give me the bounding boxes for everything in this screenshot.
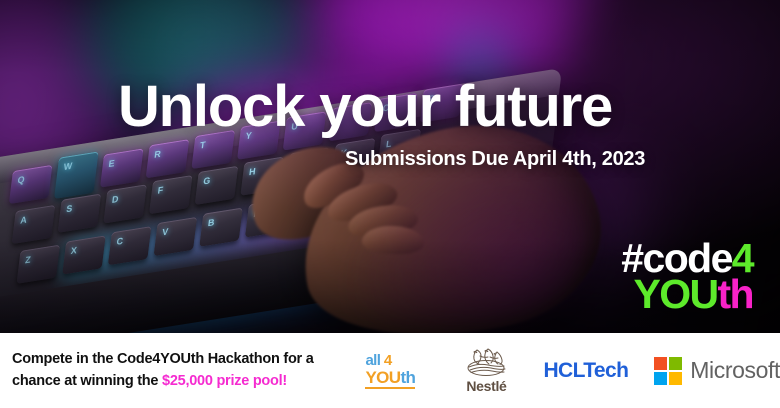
- keycap: G: [195, 166, 239, 205]
- nestle-wordmark: Nestlé: [455, 378, 517, 394]
- code4youth-you: YOU: [633, 271, 717, 317]
- bottom-bar-message-line1: Compete in the Code4YOUth Hackathon for …: [12, 351, 314, 367]
- all4youth-th: th: [400, 368, 415, 387]
- keycap-glyph: S: [66, 203, 73, 214]
- keycap: E: [100, 148, 144, 187]
- keycap: Q: [9, 165, 53, 204]
- code4youth-logo: #code4 YOUth: [578, 240, 753, 312]
- banner-headline: Unlock your future: [118, 78, 612, 136]
- bottom-bar: Compete in the Code4YOUth Hackathon for …: [0, 333, 780, 408]
- keycap-glyph: W: [63, 161, 73, 173]
- keycap: D: [103, 184, 147, 223]
- bottom-bar-message-line2-prefix: chance at winning the: [12, 373, 162, 389]
- code4youth-th: th: [718, 271, 754, 317]
- microsoft-wordmark: Microsoft: [690, 357, 780, 384]
- keycap: C: [108, 226, 152, 265]
- keycap-glyph: R: [154, 149, 162, 160]
- keycap-glyph: A: [20, 214, 28, 225]
- keycap: S: [58, 194, 102, 233]
- sponsor-logo-microsoft[interactable]: Microsoft: [654, 357, 780, 385]
- keycap: W: [54, 151, 99, 199]
- all4youth-you: YOU: [365, 368, 400, 387]
- keycap: B: [199, 208, 243, 247]
- microsoft-square-green: [669, 357, 682, 370]
- keycap-glyph: Z: [25, 254, 32, 265]
- keycap-glyph: E: [108, 158, 115, 169]
- keycap-glyph: X: [70, 245, 77, 256]
- microsoft-square-blue: [654, 372, 667, 385]
- keycap-glyph: V: [162, 226, 169, 237]
- microsoft-square-yellow: [669, 372, 682, 385]
- code4youth-logo-line2: YOUth: [578, 276, 753, 312]
- keycap-glyph: G: [203, 175, 211, 186]
- keycap-glyph: B: [207, 217, 215, 228]
- keycap-glyph: C: [116, 236, 124, 247]
- banner-subheadline: Submissions Due April 4th, 2023: [345, 148, 645, 171]
- sponsor-logos: all 4 YOUth: [359, 347, 780, 394]
- keycap: V: [154, 217, 198, 256]
- keycap: A: [12, 205, 56, 244]
- microsoft-square-red: [654, 357, 667, 370]
- keycap-glyph: H: [248, 166, 256, 177]
- nestle-birds-nest-icon: [464, 347, 508, 377]
- sponsor-logo-hcltech[interactable]: HCLTech: [543, 359, 628, 383]
- all4youth-all: all: [365, 352, 380, 369]
- keycap: R: [146, 139, 190, 178]
- bottom-bar-message: Compete in the Code4YOUth Hackathon for …: [12, 349, 359, 391]
- sponsor-logo-all4youth[interactable]: all 4 YOUth: [365, 353, 429, 389]
- keycap-glyph: Q: [17, 174, 25, 185]
- keycap: Z: [16, 245, 60, 284]
- keycap-glyph: D: [111, 194, 119, 205]
- prize-pool-highlight: $25,000 prize pool!: [162, 373, 287, 389]
- keycap-glyph: T: [199, 139, 206, 150]
- all4youth-four: 4: [384, 352, 392, 369]
- sponsor-logo-nestle[interactable]: Nestlé: [455, 347, 517, 394]
- keycap-glyph: F: [157, 185, 164, 196]
- keycap: F: [149, 175, 193, 214]
- hackathon-promo-banner: Q W E R T Y U I O P A S D F G H J: [0, 0, 780, 408]
- all4youth-line2: YOUth: [365, 369, 415, 389]
- all4youth-line1: all 4: [365, 353, 429, 368]
- keycap: X: [62, 235, 106, 274]
- microsoft-squares-icon: [654, 357, 682, 385]
